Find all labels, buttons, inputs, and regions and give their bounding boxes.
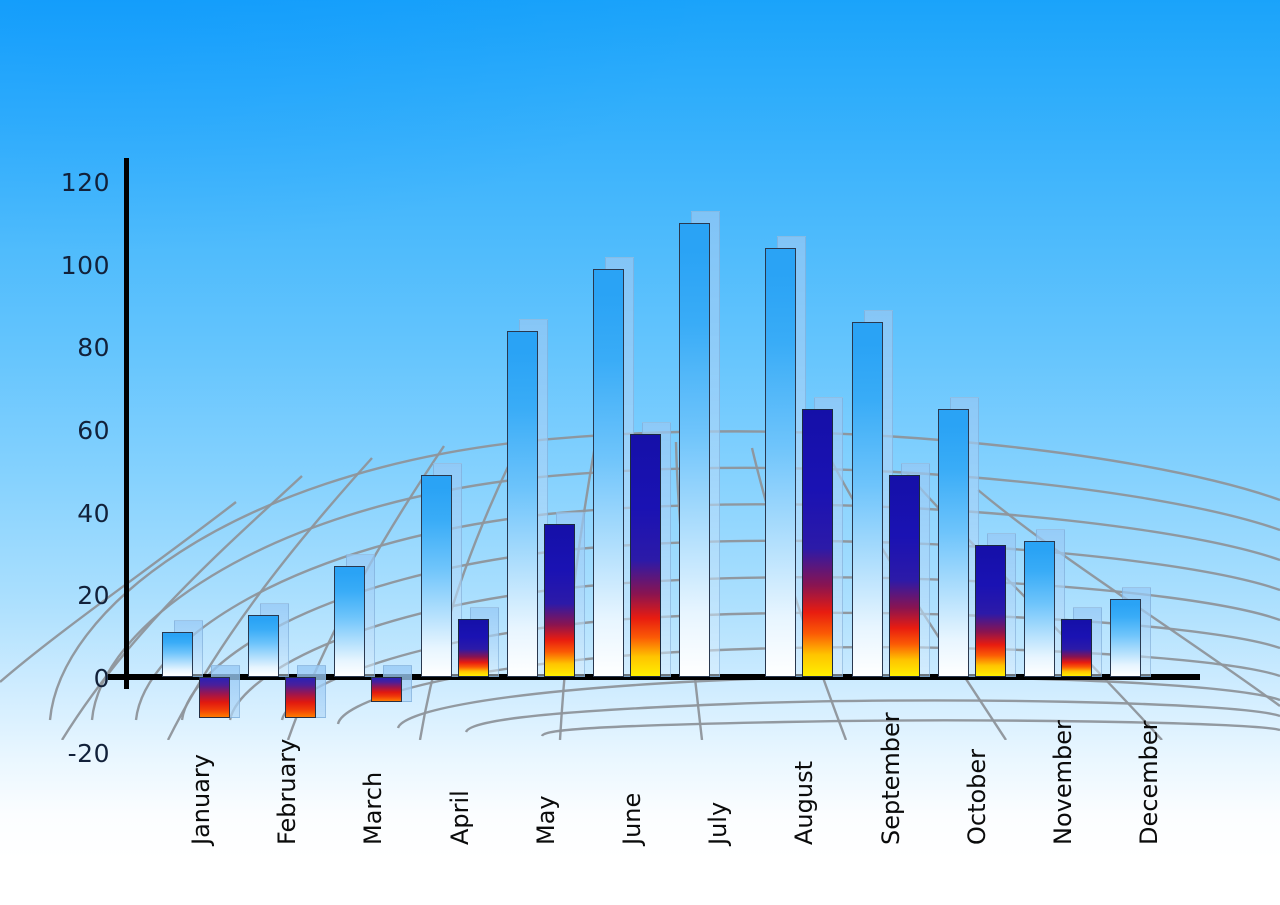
bar-series-1[interactable] xyxy=(334,566,365,677)
y-tick-label-120: 120 xyxy=(40,168,110,197)
bar-face xyxy=(889,475,920,677)
bar-face xyxy=(334,566,365,677)
bar-face xyxy=(458,619,489,677)
bar-face xyxy=(679,223,710,677)
bar-face xyxy=(765,248,796,677)
category-label-april: April xyxy=(446,790,474,845)
bar-face xyxy=(1110,599,1141,677)
bar-face xyxy=(248,615,279,677)
bar-series-1[interactable] xyxy=(162,632,193,677)
bar-series-2-negative[interactable] xyxy=(199,677,230,718)
category-label-september: September xyxy=(877,712,905,845)
bar-series-1[interactable] xyxy=(679,223,710,677)
bar-series-2[interactable] xyxy=(544,524,575,677)
bar-series-1[interactable] xyxy=(593,269,624,677)
bar-series-2[interactable] xyxy=(889,475,920,677)
bar-series-1[interactable] xyxy=(421,475,452,677)
bar-face xyxy=(630,434,661,677)
bar-series-2[interactable] xyxy=(802,409,833,677)
bar-series-2[interactable] xyxy=(975,545,1006,677)
bar-series-1[interactable] xyxy=(938,409,969,677)
bar-series-2-negative[interactable] xyxy=(371,677,402,702)
bar-series-2-negative[interactable] xyxy=(285,677,316,718)
category-label-january: January xyxy=(187,754,215,845)
category-label-june: June xyxy=(618,793,646,845)
bar-face xyxy=(199,677,230,718)
bar-face xyxy=(507,331,538,678)
y-tick-label-20: 20 xyxy=(40,581,110,610)
bar-face xyxy=(852,322,883,677)
bar-series-1[interactable] xyxy=(852,322,883,677)
bar-series-2[interactable] xyxy=(458,619,489,677)
y-tick-label-100: 100 xyxy=(40,251,110,280)
y-tick-label-40: 40 xyxy=(40,499,110,528)
category-label-february: February xyxy=(273,739,301,845)
category-label-july: July xyxy=(704,802,732,845)
bar-series-1[interactable] xyxy=(1110,599,1141,677)
bar-face xyxy=(975,545,1006,677)
y-axis-zero-tick xyxy=(108,674,148,680)
plot-area: 120 100 80 60 40 20 0 -20 JanuaryFebruar… xyxy=(0,0,1280,905)
category-label-august: August xyxy=(790,761,818,845)
bar-face xyxy=(802,409,833,677)
y-tick-label-80: 80 xyxy=(40,333,110,362)
bar-face xyxy=(1061,619,1092,677)
category-label-november: November xyxy=(1049,720,1077,845)
bar-face xyxy=(544,524,575,677)
bar-face xyxy=(421,475,452,677)
category-label-october: October xyxy=(963,749,991,845)
bar-series-1[interactable] xyxy=(248,615,279,677)
bar-face xyxy=(938,409,969,677)
bar-face xyxy=(371,677,402,702)
y-tick-label-60: 60 xyxy=(40,416,110,445)
bar-series-1[interactable] xyxy=(507,331,538,678)
y-axis-line xyxy=(124,158,129,689)
bar-face xyxy=(593,269,624,677)
bar-face xyxy=(1024,541,1055,677)
bar-series-1[interactable] xyxy=(765,248,796,677)
category-label-march: March xyxy=(359,772,387,845)
y-tick-label-0: 0 xyxy=(40,664,110,693)
bar-face xyxy=(162,632,193,677)
bar-series-2[interactable] xyxy=(1061,619,1092,677)
category-label-may: May xyxy=(532,795,560,845)
bar-series-1[interactable] xyxy=(1024,541,1055,677)
bar-series-2[interactable] xyxy=(630,434,661,677)
bar-face xyxy=(285,677,316,718)
y-tick-label-neg20: -20 xyxy=(40,739,110,768)
category-label-december: December xyxy=(1135,721,1163,845)
chart-canvas: 120 100 80 60 40 20 0 -20 JanuaryFebruar… xyxy=(0,0,1280,905)
